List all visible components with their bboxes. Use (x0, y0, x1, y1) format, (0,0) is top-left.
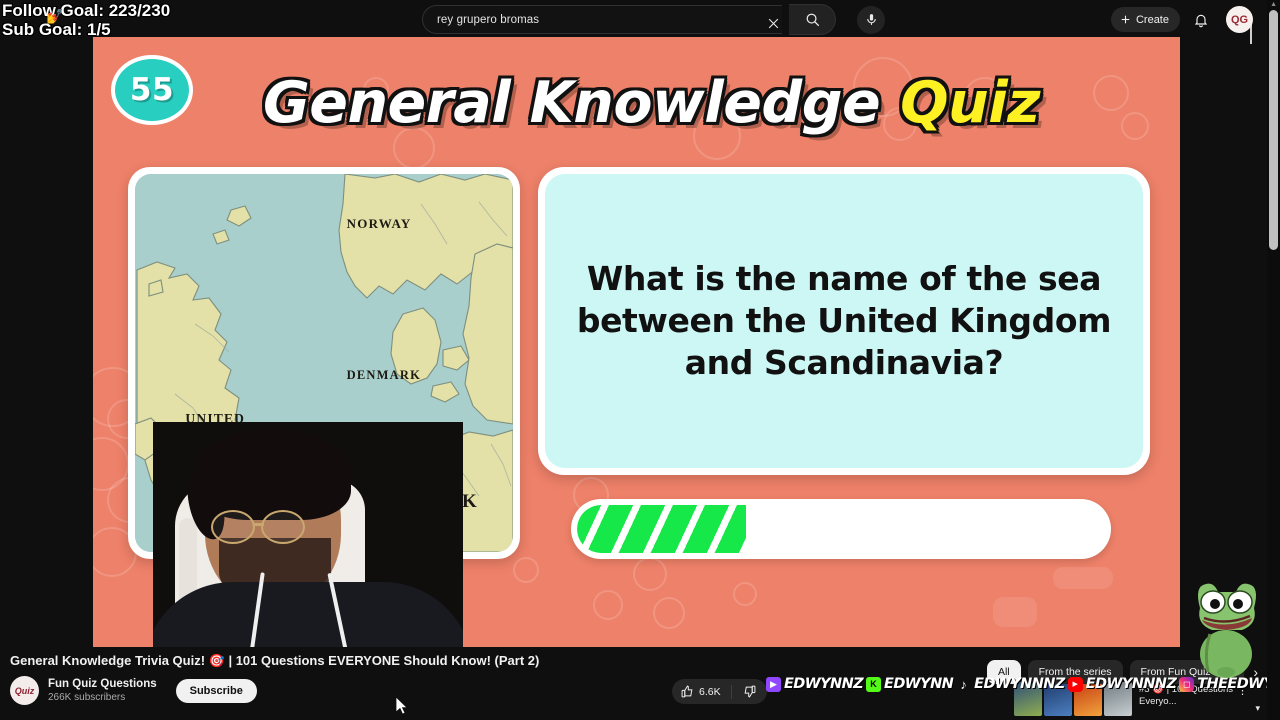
youtube-watch-page: rey grupero bromas (0, 0, 1280, 720)
quiz-progress-fill (577, 505, 746, 553)
chevron-down-icon[interactable]: ▾ (1255, 703, 1260, 714)
follow-goal-text: Follow Goal: 223/230 (2, 1, 170, 20)
youtube-icon: ▶ (1068, 677, 1083, 692)
subscribe-button[interactable]: Subscribe (176, 679, 257, 703)
quiz-progress-track (577, 505, 1105, 553)
question-card: What is the name of the sea between the … (538, 167, 1150, 475)
channel-info: Fun Quiz Questions 266K subscribers (48, 678, 157, 704)
kick-handle: EDWYNN (884, 676, 953, 692)
glasses-bridge (254, 523, 264, 526)
like-count: 6.6K (699, 686, 721, 698)
video-player[interactable]: 55 General Knowledge Quiz (93, 37, 1180, 647)
map-label-norway: NORWAY (347, 217, 412, 230)
channel-name[interactable]: Fun Quiz Questions (48, 678, 157, 691)
map-label-denmark-small: DENMARK (347, 369, 421, 382)
video-title: General Knowledge Trivia Quiz! 🎯 | 101 Q… (10, 653, 539, 669)
search-area: rey grupero bromas (422, 4, 885, 35)
sub-goal-text: Sub Goal: 1/5 (2, 20, 170, 39)
quiz-progress-bar (571, 499, 1111, 559)
thumbs-up-icon (681, 685, 694, 698)
socials-banner: ▶ EDWYNNZ K EDWYNN ♪ EDWYNNNZ ▶ EDWYNNNZ… (766, 676, 1280, 692)
thumbs-down-icon (743, 685, 756, 698)
scroll-up-arrow-icon[interactable]: ▲ (1270, 1, 1277, 8)
avatar-initials: QG (1231, 14, 1248, 26)
plus-icon (1119, 13, 1132, 26)
streamer-webcam-overlay (153, 422, 463, 647)
like-button[interactable]: 6.6K (672, 685, 731, 698)
notifications-bell-icon (1193, 12, 1209, 28)
question-text: What is the name of the sea between the … (569, 258, 1119, 384)
social-kick: K EDWYNN (866, 676, 953, 692)
youtube-handle: EDWYNNNZ (1086, 676, 1177, 692)
stream-goal-overlay: Follow Goal: 223/230 Sub Goal: 1/5 (2, 1, 170, 39)
like-dislike-group: 6.6K (672, 679, 767, 704)
tiktok-handle: EDWYNNNZ (974, 676, 1065, 692)
tiktok-icon: ♪ (956, 677, 971, 692)
channel-row: Quiz Fun Quiz Questions 266K subscribers… (10, 676, 257, 705)
notifications-button[interactable] (1189, 8, 1213, 32)
twitch-handle: EDWYNNZ (784, 676, 863, 692)
dislike-button[interactable] (732, 685, 767, 698)
account-avatar[interactable]: QG (1226, 6, 1253, 33)
social-youtube: ▶ EDWYNNNZ (1068, 676, 1177, 692)
channel-avatar[interactable]: Quiz (10, 676, 39, 705)
channel-avatar-label: Quiz (15, 686, 35, 696)
social-twitch: ▶ EDWYNNZ (766, 676, 863, 692)
streamer-torso (153, 582, 463, 647)
subscriber-count: 266K subscribers (48, 691, 157, 704)
pepe-frog-sticker (1180, 568, 1272, 678)
question-number: 55 (130, 72, 174, 108)
mouse-cursor (396, 697, 408, 720)
question-number-badge: 55 (111, 55, 193, 125)
social-instagram: ◻ THEEDWYNNZ (1179, 676, 1280, 692)
glasses-right-lens (261, 510, 305, 544)
microphone-icon (865, 13, 878, 26)
search-input[interactable]: rey grupero bromas (422, 5, 782, 34)
search-button[interactable] (789, 4, 836, 35)
kick-icon: K (866, 677, 881, 692)
instagram-icon: ◻ (1179, 677, 1194, 692)
search-input-value: rey grupero bromas (437, 14, 539, 26)
player-left-letterbox (0, 37, 93, 647)
clear-search-icon[interactable] (760, 9, 786, 38)
question-card-inner: What is the name of the sea between the … (545, 174, 1143, 468)
quiz-title-accent: Quiz (900, 70, 1040, 136)
search-icon (805, 12, 820, 27)
voice-search-button[interactable] (857, 6, 885, 34)
quiz-title-main: General Knowledge (263, 70, 880, 136)
glasses-left-lens (211, 510, 255, 544)
quiz-title: General Knowledge Quiz (263, 59, 1040, 147)
player-right-letterbox (1180, 37, 1280, 647)
create-button[interactable]: Create (1111, 7, 1180, 32)
twitch-icon: ▶ (766, 677, 781, 692)
page-scrollbar-thumb[interactable] (1269, 10, 1278, 250)
social-tiktok: ♪ EDWYNNNZ (956, 676, 1065, 692)
nail-polish-emoji: 💅 (46, 8, 63, 25)
create-button-label: Create (1136, 14, 1169, 26)
youtube-header: rey grupero bromas (0, 0, 1280, 37)
